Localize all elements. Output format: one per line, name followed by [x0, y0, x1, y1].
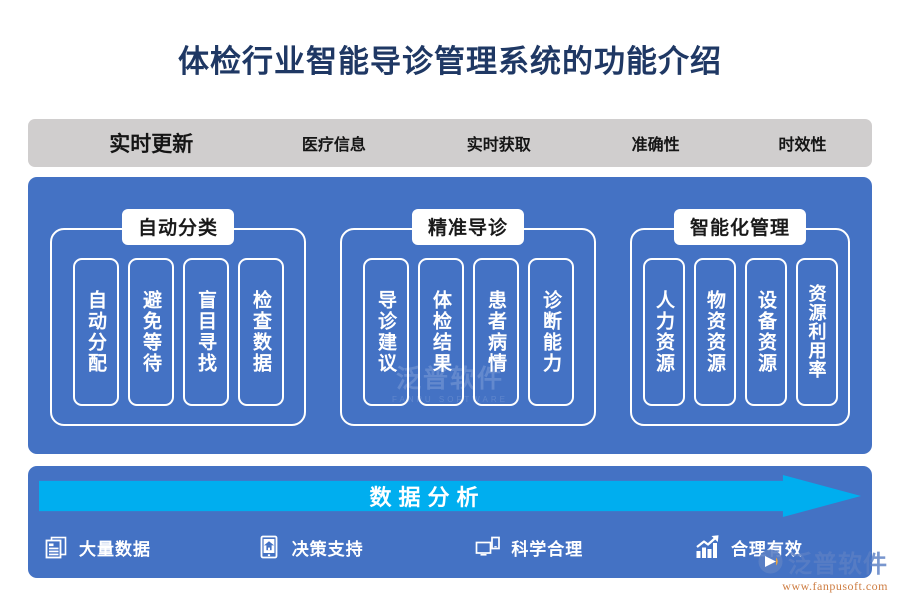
- feature-card[interactable]: 设备资源: [745, 258, 787, 406]
- group-card-list-0: 自动分配 避免等待 盲目寻找 检查数据: [52, 230, 304, 424]
- feature-card[interactable]: 体检结果: [418, 258, 464, 406]
- growth-chart-icon: [694, 533, 722, 561]
- feature-card[interactable]: 检查数据: [238, 258, 284, 406]
- feature-card[interactable]: 盲目寻找: [183, 258, 229, 406]
- page-title: 体检行业智能导诊管理系统的功能介绍: [0, 36, 900, 81]
- bottom-feature-row: 大量数据 决策支持: [28, 522, 872, 572]
- keyword-item-3: 准确性: [586, 131, 725, 155]
- feature-group-intelligent-management: 智能化管理 人力资源 物资资源 设备资源 资源利用率: [630, 228, 850, 426]
- bottom-feature-item-3: 合理有效: [694, 533, 872, 561]
- arrow-label: 数据分析: [39, 475, 809, 517]
- feature-card[interactable]: 资源利用率: [796, 258, 838, 406]
- keyword-item-1: 医疗信息: [255, 131, 414, 155]
- group-card-list-2: 人力资源 物资资源 设备资源 资源利用率: [632, 230, 848, 424]
- bottom-feature-label: 科学合理: [511, 535, 583, 560]
- feature-card[interactable]: 避免等待: [128, 258, 174, 406]
- keyword-item-2: 实时获取: [419, 131, 578, 155]
- keyword-item-4: 时效性: [733, 131, 872, 155]
- feature-card[interactable]: 患者病情: [473, 258, 519, 406]
- bottom-feature-item-2: 科学合理: [474, 533, 694, 561]
- documents-icon: [42, 533, 70, 561]
- devices-icon: [474, 533, 502, 561]
- data-analysis-arrow: 数据分析: [39, 475, 861, 517]
- data-analysis-panel: 数据分析 大量数据: [28, 466, 872, 578]
- bottom-feature-item-0: 大量数据: [42, 533, 255, 561]
- feature-group-automatic-classification: 自动分类 自动分配 避免等待 盲目寻找 检查数据: [50, 228, 306, 426]
- keyword-bar: 实时更新 医疗信息 实时获取 准确性 时效性: [28, 119, 872, 167]
- bottom-feature-label: 合理有效: [731, 535, 803, 560]
- feature-card[interactable]: 诊断能力: [528, 258, 574, 406]
- bottom-feature-label: 决策支持: [292, 535, 364, 560]
- feature-group-precise-triage: 精准导诊 导诊建议 体检结果 患者病情 诊断能力: [340, 228, 596, 426]
- group-card-list-1: 导诊建议 体检结果 患者病情 诊断能力: [342, 230, 594, 424]
- keyword-item-0: 实时更新: [52, 128, 251, 158]
- feature-card[interactable]: 自动分配: [73, 258, 119, 406]
- main-feature-panel: 泛普软件 FANPU SOFTWARE 自动分类 自动分配 避免等待 盲目寻找 …: [28, 177, 872, 454]
- tablet-home-icon: [255, 533, 283, 561]
- feature-card[interactable]: 导诊建议: [363, 258, 409, 406]
- bottom-feature-item-1: 决策支持: [255, 533, 475, 561]
- feature-card[interactable]: 人力资源: [643, 258, 685, 406]
- bottom-feature-label: 大量数据: [79, 535, 151, 560]
- feature-card[interactable]: 物资资源: [694, 258, 736, 406]
- brand-url: www.fanpusoft.com: [757, 579, 888, 594]
